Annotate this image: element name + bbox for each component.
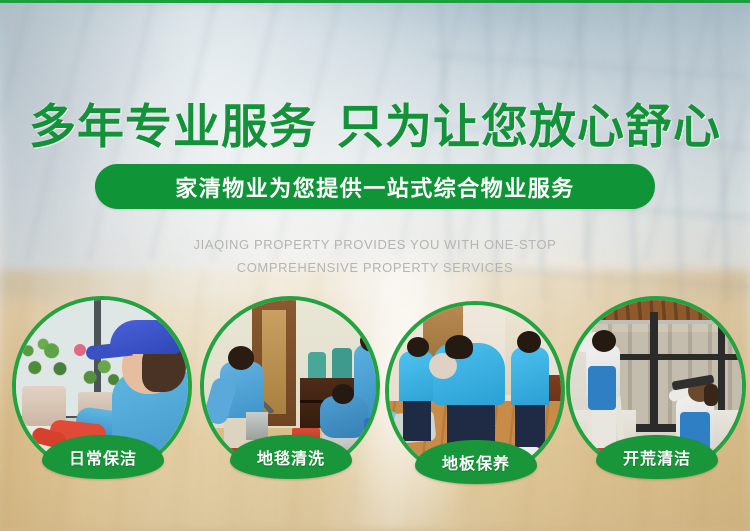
service-label-text: 日常保洁	[69, 445, 137, 469]
service-label-text: 地毯清洗	[257, 445, 325, 469]
promo-banner: 多年专业服务只为让您放心舒心 家清物业为您提供一站式综合物业服务 JIAQING…	[0, 0, 750, 531]
service-label-carpet-cleaning: 地毯清洗	[230, 435, 352, 479]
service-label-text: 地板保养	[442, 450, 510, 474]
service-label-text: 开荒清洁	[623, 445, 691, 469]
service-item-daily-cleaning[interactable]: 日常保洁	[12, 296, 200, 484]
service-label-rough-cleaning: 开荒清洁	[596, 435, 718, 479]
service-item-carpet-cleaning[interactable]: 地毯清洗	[200, 296, 388, 484]
service-item-floor-maintenance[interactable]: 地板保养	[385, 301, 573, 489]
service-circles: 日常保洁	[0, 0, 750, 531]
service-label-daily-cleaning: 日常保洁	[42, 435, 164, 479]
service-label-floor-maintenance: 地板保养	[415, 440, 537, 484]
service-item-rough-cleaning[interactable]: 开荒清洁	[566, 296, 750, 484]
